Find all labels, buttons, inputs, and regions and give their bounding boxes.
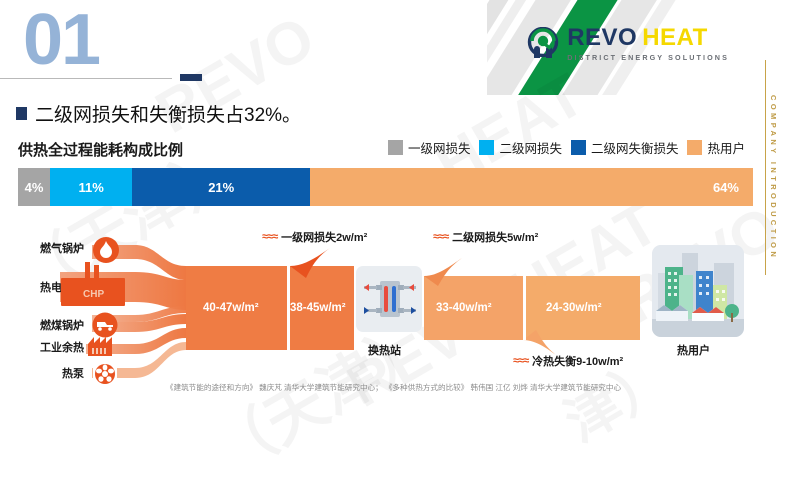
bar-segment-secondary-loss: 11% — [50, 168, 132, 206]
svg-text:CHP: CHP — [83, 289, 104, 300]
legend-label: 一级网损失 — [408, 138, 471, 157]
source-label-heat-pump: 热泵 — [28, 365, 84, 381]
logo-word-heat: HEAT — [642, 24, 708, 51]
loss-note-label: 一级网损失2w/m² — [281, 229, 367, 245]
legend-swatch-navy — [571, 140, 586, 155]
energy-flow-diagram: 燃气锅炉 热电联产 燃煤锅炉 工业余热 热泵 CHP — [0, 218, 787, 398]
source-citation: 《建筑节能的途径和方向》 魏庆芃 清华大学建筑节能研究中心； 《多种供热方式的比… — [0, 382, 787, 393]
legend-label: 二级网失衡损失 — [591, 138, 679, 157]
loss-note-label: 二级网损失5w/m² — [452, 229, 538, 245]
legend-item: 二级网损失 — [479, 138, 562, 157]
source-label-gas-boiler: 燃气锅炉 — [18, 240, 84, 256]
heat-wave-icon: ≈≈≈ — [433, 231, 448, 243]
flow-value-1: 40-47w/m² — [203, 302, 259, 314]
loss-note-secondary-net: ≈≈≈ 二级网损失5w/m² — [433, 229, 538, 245]
brand-logo: REVOHEAT DISTRICT ENERGY SOLUTIONS — [526, 26, 729, 62]
station-caption: 换热站 — [368, 342, 401, 358]
chp-plant-icon: CHP — [57, 258, 129, 313]
page-title: 二级网损失和失衡损失占32%。 — [16, 100, 301, 127]
logo-word-revo: REVO — [567, 24, 637, 51]
city-buildings-icon — [652, 245, 744, 337]
flow-value-3: 33-40w/m² — [436, 302, 492, 314]
chart-subtitle: 供热全过程能耗构成比例 — [18, 139, 183, 160]
title-bullet-icon — [16, 107, 27, 120]
legend-label: 热用户 — [707, 138, 745, 157]
heat-exchanger-icon — [356, 266, 422, 332]
header-dash-accent — [180, 74, 202, 81]
legend-item: 一级网损失 — [388, 138, 471, 157]
loss-note-label: 冷热失衡9-10w/m² — [532, 353, 623, 369]
source-label-industrial-waste-heat: 工业余热 — [10, 339, 84, 355]
factory-icon — [86, 334, 114, 363]
bar-segment-heat-user: 64% — [310, 168, 753, 206]
legend-swatch-cyan — [479, 140, 494, 155]
bar-segment-label: 21% — [208, 180, 234, 195]
loss-note-imbalance: ≈≈≈ 冷热失衡9-10w/m² — [513, 353, 623, 369]
bar-segment-primary-loss: 4% — [18, 168, 50, 206]
revo-heat-mark-icon — [526, 27, 560, 61]
loss-note-primary-net: ≈≈≈ 一级网损失2w/m² — [262, 229, 367, 245]
bar-segment-label: 4% — [25, 180, 44, 195]
heat-user-caption: 热用户 — [677, 342, 710, 358]
legend-swatch-gray — [388, 140, 403, 155]
title-text: 二级网损失和失衡损失占32%。 — [35, 100, 301, 127]
flow-value-2: 38-45w/m² — [290, 302, 346, 314]
header-rule — [0, 78, 172, 79]
legend-item: 二级网失衡损失 — [571, 138, 679, 157]
bar-segment-label: 11% — [78, 180, 103, 195]
flow-value-4: 24-30w/m² — [546, 302, 602, 314]
legend-label: 二级网损失 — [499, 138, 562, 157]
stacked-bar-chart: 4% 11% 21% 64% — [18, 168, 753, 206]
heat-wave-icon: ≈≈≈ — [262, 231, 277, 243]
legend-item: 热用户 — [687, 138, 745, 157]
chart-legend: 一级网损失 二级网损失 二级网失衡损失 热用户 — [388, 138, 745, 157]
bar-segment-imbalance-loss: 21% — [132, 168, 310, 206]
logo-tagline: DISTRICT ENERGY SOLUTIONS — [567, 53, 729, 62]
legend-swatch-orange — [687, 140, 702, 155]
section-number: 01 — [23, 4, 99, 76]
source-label-coal-boiler: 燃煤锅炉 — [18, 317, 84, 333]
heat-wave-icon: ≈≈≈ — [513, 355, 528, 367]
bar-segment-label: 64% — [713, 180, 739, 195]
